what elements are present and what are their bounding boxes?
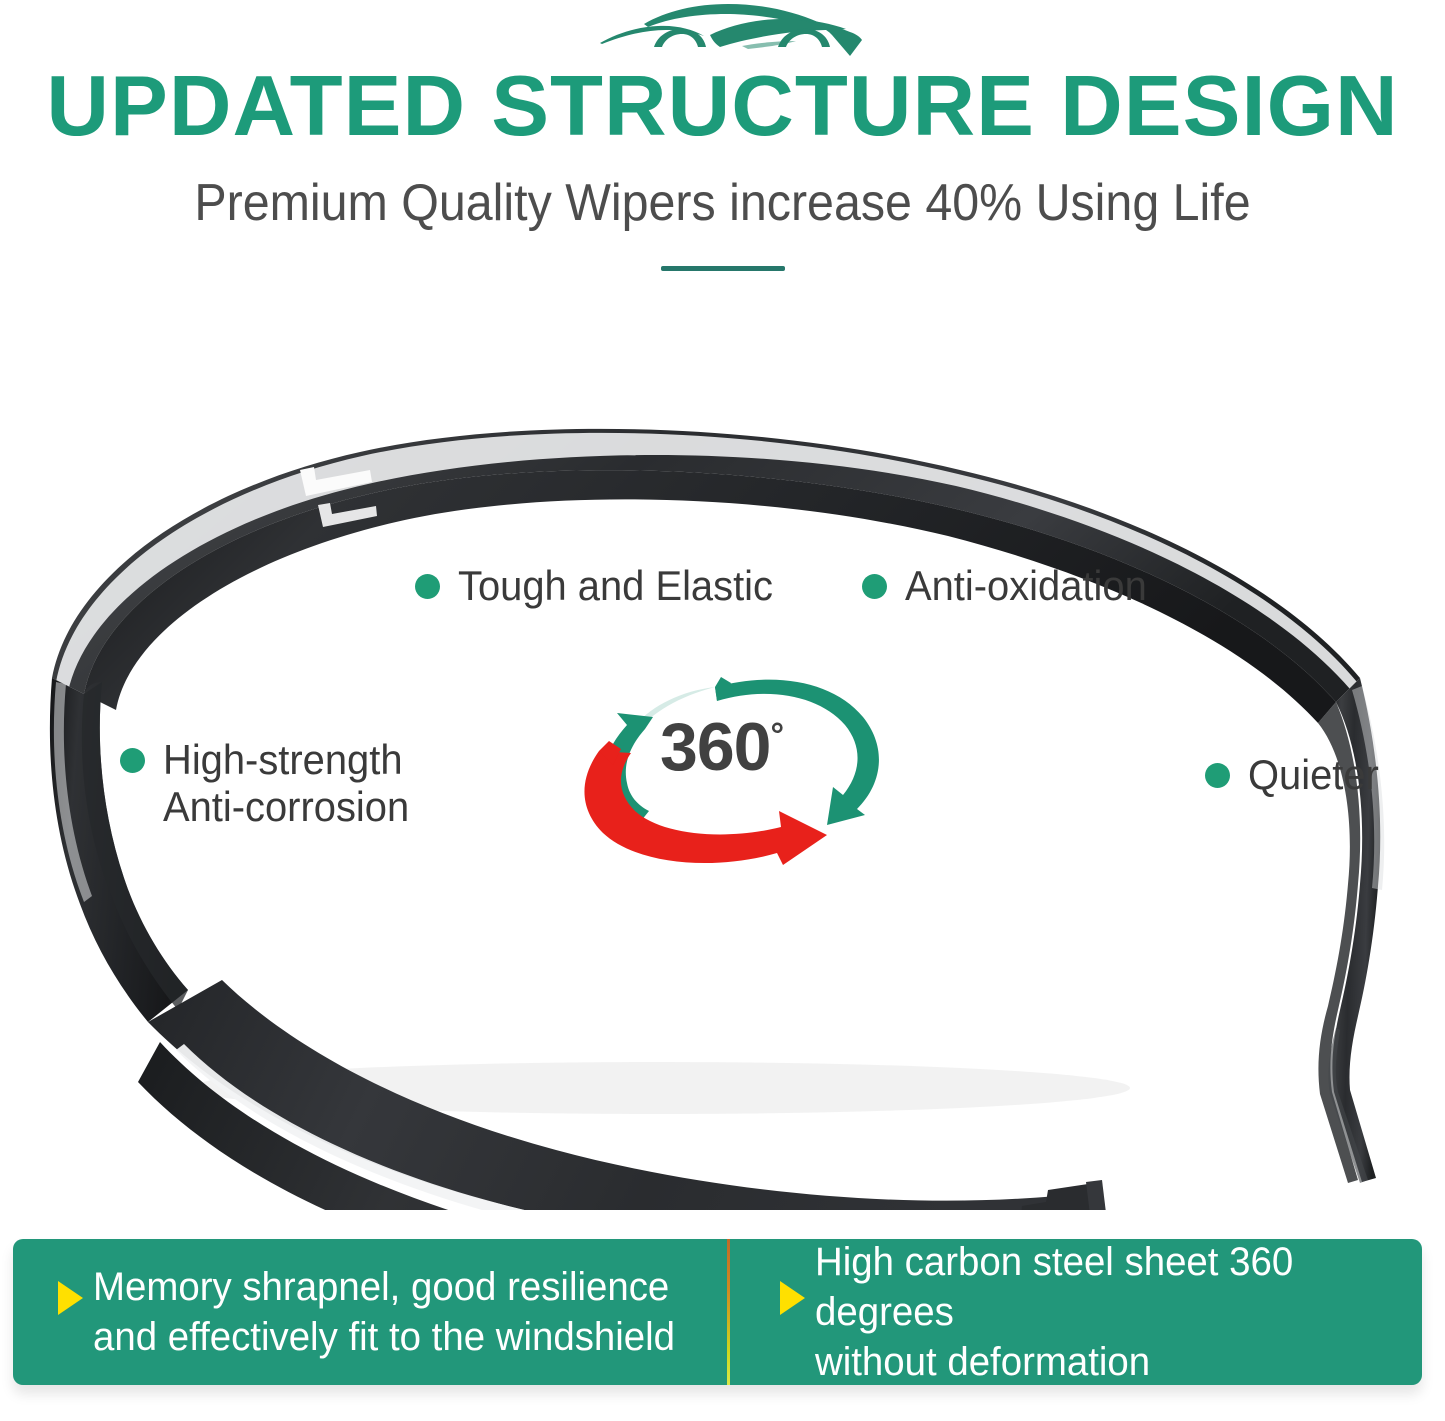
callout-quieter: Quieter <box>1205 751 1386 798</box>
sports-car-silhouette-icon <box>592 2 868 58</box>
callout-anti-oxidation: Anti-oxidation <box>862 562 1159 609</box>
page-title: UPDATED STRUCTURE DESIGN <box>0 60 1445 153</box>
page-subtitle: Premium Quality Wipers increase 40% Usin… <box>51 172 1395 234</box>
banner-text: Memory shrapnel, good resilience and eff… <box>93 1262 675 1362</box>
degree-symbol: ° <box>770 716 783 754</box>
badge-360-label: 360° <box>660 713 783 781</box>
banner-divider <box>727 1239 730 1385</box>
triangle-bullet-icon <box>58 1281 83 1315</box>
360-degree-rotation-badge: 360° <box>565 655 915 865</box>
banner-line1: High carbon steel sheet 360 degrees <box>815 1237 1398 1337</box>
badge-number: 360 <box>660 709 770 785</box>
bullet-dot-icon <box>1205 763 1230 788</box>
callout-label: Quieter <box>1248 751 1379 798</box>
callout-tough-and-elastic: Tough and Elastic <box>415 562 790 609</box>
callout-label-line1: High-strength <box>163 736 409 783</box>
callout-high-strength-anti-corrosion: High-strength Anti-corrosion <box>120 736 422 830</box>
triangle-bullet-icon <box>780 1281 805 1315</box>
title-underline-rule <box>661 266 785 271</box>
bullet-dot-icon <box>862 574 887 599</box>
banner-text: High carbon steel sheet 360 degrees with… <box>815 1237 1398 1387</box>
banner-line2: without deformation <box>815 1337 1398 1387</box>
feature-banner: Memory shrapnel, good resilience and eff… <box>13 1239 1422 1385</box>
callout-label-line2: Anti-corrosion <box>163 783 409 830</box>
bullet-dot-icon <box>415 574 440 599</box>
banner-panel-memory-shrapnel: Memory shrapnel, good resilience and eff… <box>13 1239 718 1385</box>
banner-panel-high-carbon-steel: High carbon steel sheet 360 degrees with… <box>718 1239 1423 1385</box>
banner-line1: Memory shrapnel, good resilience <box>93 1262 675 1312</box>
product-feature-infographic: UPDATED STRUCTURE DESIGN Premium Quality… <box>0 0 1445 1421</box>
bullet-dot-icon <box>120 748 145 773</box>
banner-line2: and effectively fit to the windshield <box>93 1312 675 1362</box>
callout-label: Anti-oxidation <box>905 562 1147 609</box>
callout-label: Tough and Elastic <box>458 562 773 609</box>
